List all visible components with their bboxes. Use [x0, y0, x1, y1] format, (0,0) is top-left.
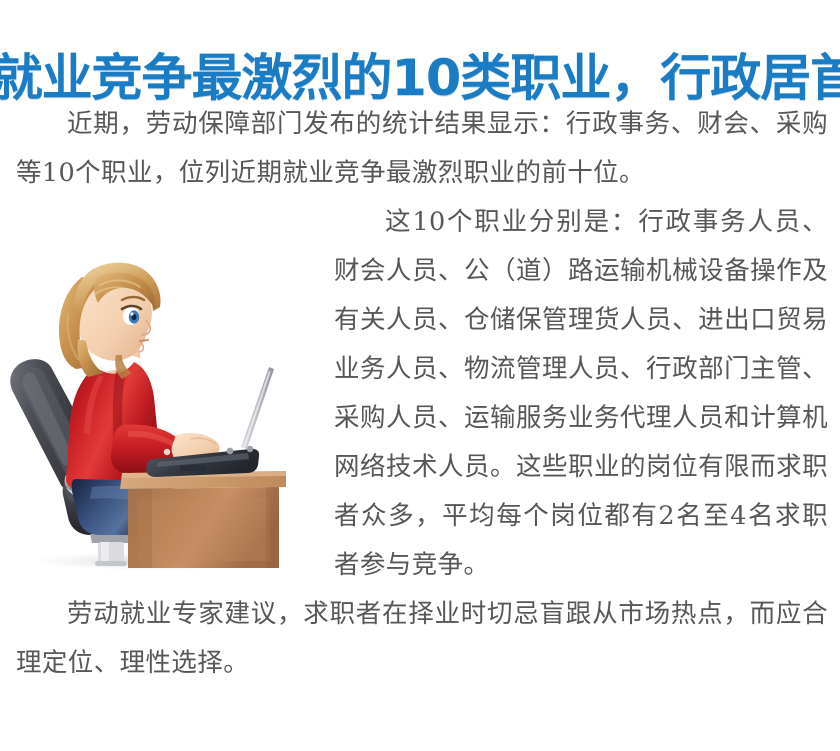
paragraph-3: 劳动就业专家建议，求职者在择业时切忌盲跟从市场热点，而应合理定位、理性选择。 [16, 590, 828, 688]
article-page: 就业竞争最激烈的10类职业，行政居首位 [0, 0, 840, 751]
page-title: 就业竞争最激烈的10类职业，行政居首位 [0, 48, 840, 108]
illustration-float-reserve [16, 234, 312, 570]
article-body: 近期，劳动保障部门发布的统计结果显示：行政事务、财会、采购等10个职业，位列近期… [16, 100, 828, 688]
paragraph-1: 近期，劳动保障部门发布的统计结果显示：行政事务、财会、采购等10个职业，位列近期… [16, 100, 828, 198]
